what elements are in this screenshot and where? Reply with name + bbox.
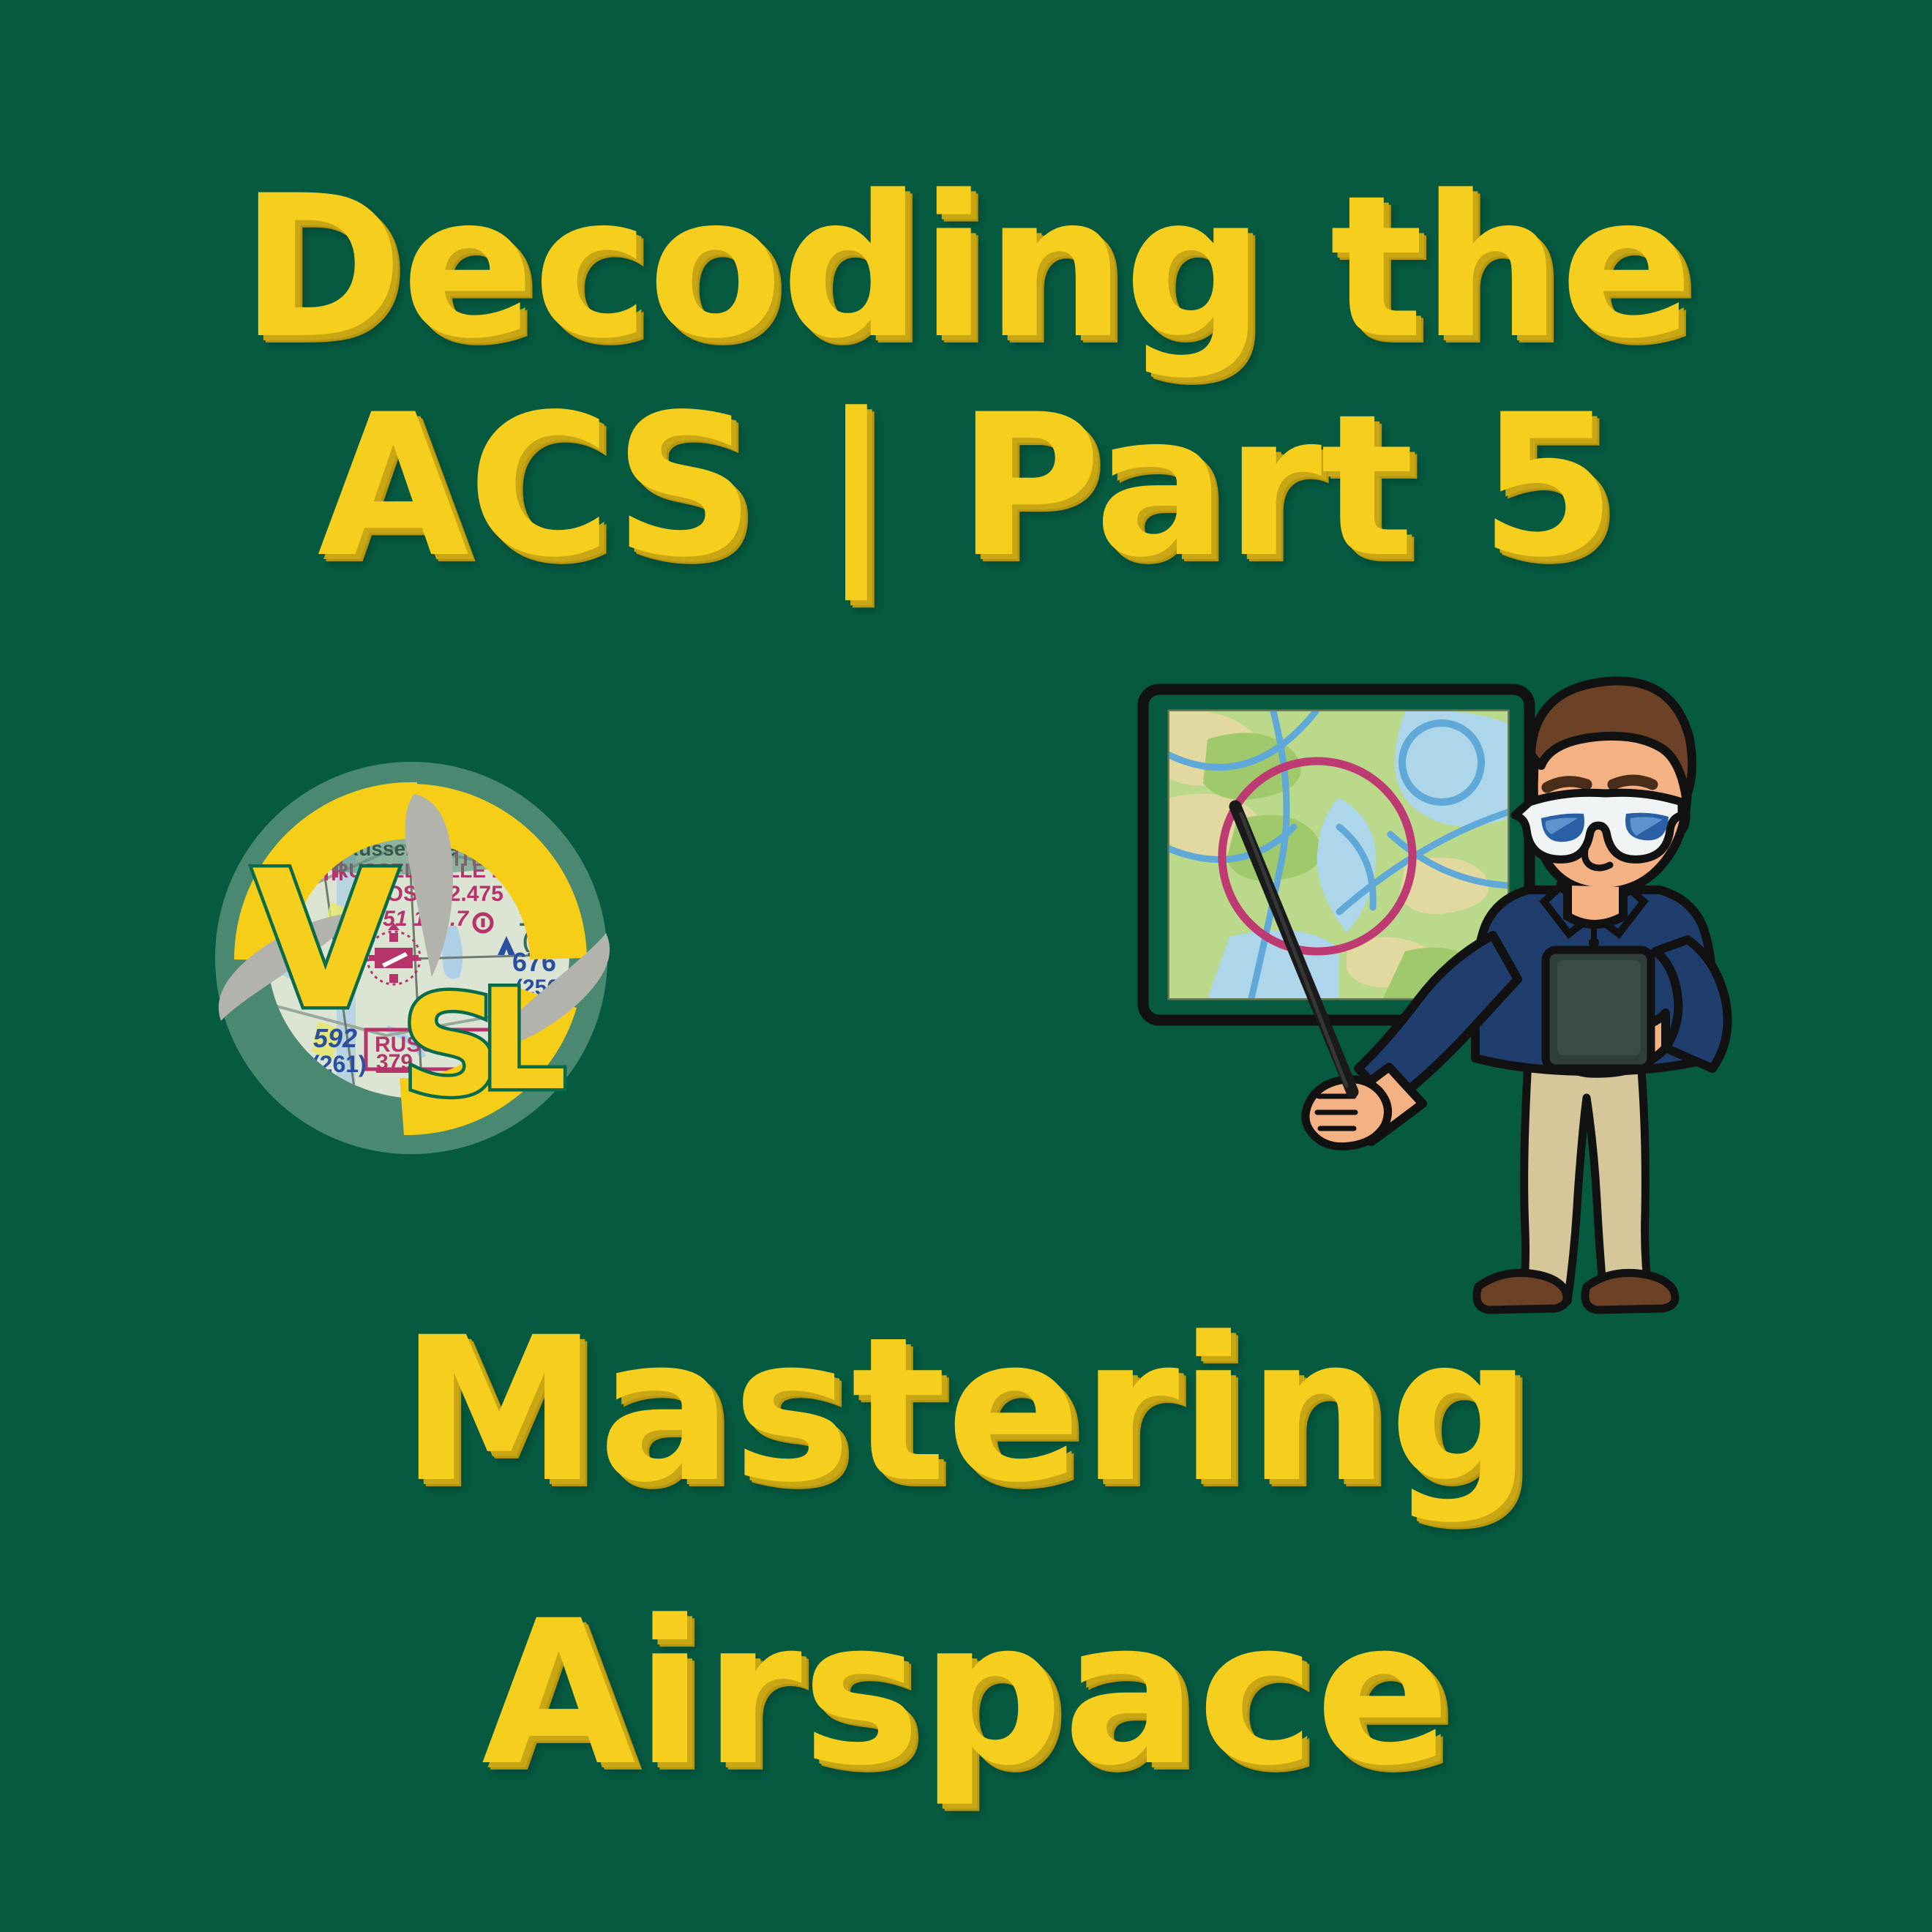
subtitle: Mastering Airspace — [0, 1314, 1932, 1791]
title-line-1: Decoding the — [0, 174, 1932, 362]
instructor-illustration — [1098, 644, 1771, 1317]
vsl-logo: 545 304 (450) HA V 534 736 (406) Russell… — [167, 714, 656, 1202]
subtitle-line-2: Airspace — [0, 1597, 1932, 1792]
page-title: Decoding the ACS | Part 5 — [0, 174, 1932, 582]
title-line-2: ACS | Part 5 — [0, 393, 1932, 581]
thumbnail-canvas: Decoding the ACS | Part 5 — [0, 0, 1932, 1932]
logo-letter-v: V — [252, 831, 400, 1052]
logo-letter-l: L — [479, 959, 567, 1121]
subtitle-line-1: Mastering — [0, 1314, 1932, 1509]
